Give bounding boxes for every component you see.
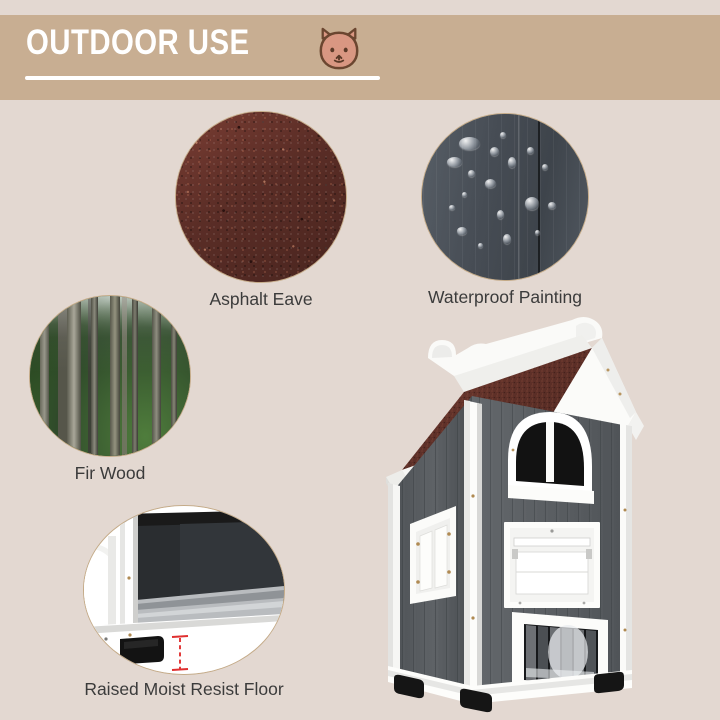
water-droplet (490, 147, 499, 156)
water-droplet (548, 202, 556, 209)
water-droplet (447, 157, 462, 167)
water-droplet (527, 147, 534, 154)
tree-trunk (40, 296, 49, 456)
tree-trunk (132, 296, 138, 456)
raised-floor-image (84, 506, 284, 674)
tree-trunk (110, 296, 120, 456)
waterproof-painting-image (422, 114, 588, 280)
raised-floor-label: Raised Moist Resist Floor (84, 679, 284, 700)
tree-trunk (171, 296, 177, 456)
water-droplet (508, 157, 516, 168)
water-droplet (457, 227, 467, 235)
water-droplet (468, 170, 475, 177)
asphalt-eave-label: Asphalt Eave (176, 289, 346, 310)
painted-wood-texture (422, 114, 588, 280)
feature-fir-wood: Fir Wood (30, 296, 190, 484)
infographic-canvas: OUTDOOR USE Asphalt Eave (0, 0, 720, 720)
water-droplet (485, 179, 496, 188)
asphalt-texture (176, 112, 346, 282)
water-droplet (535, 230, 540, 235)
feature-asphalt-eave: Asphalt Eave (176, 112, 346, 310)
feature-raised-moist-resist-floor: Raised Moist Resist Floor (84, 506, 284, 700)
feature-waterproof-painting: Waterproof Painting (422, 114, 588, 308)
asphalt-eave-image (176, 112, 346, 282)
arched-window (508, 412, 594, 504)
fir-wood-image (30, 296, 190, 456)
water-droplet (459, 137, 480, 150)
water-droplet (542, 164, 548, 170)
tree-trunk (67, 296, 81, 456)
water-droplet (497, 210, 504, 219)
right-corner-post (620, 424, 632, 676)
water-droplet (500, 132, 506, 138)
fir-wood-label: Fir Wood (30, 463, 190, 484)
corner-post (464, 400, 482, 692)
raised-floor-illustration (84, 506, 284, 674)
tree-trunk (91, 296, 98, 456)
water-droplet (462, 192, 467, 197)
water-droplet (449, 205, 455, 210)
front-access-panel (504, 522, 600, 608)
cat-house-illustration (336, 300, 666, 715)
tree-trunk (152, 296, 161, 456)
water-droplet (503, 234, 511, 244)
product-image-cat-house (336, 300, 666, 715)
cat-face-icon (314, 26, 364, 72)
water-droplet (525, 197, 539, 210)
title-underline (25, 76, 380, 80)
window-mullion (546, 422, 554, 482)
fir-forest-texture (30, 296, 190, 456)
left-edge-trim (388, 483, 400, 674)
water-droplet (478, 243, 483, 248)
page-title: OUTDOOR USE (26, 23, 250, 63)
